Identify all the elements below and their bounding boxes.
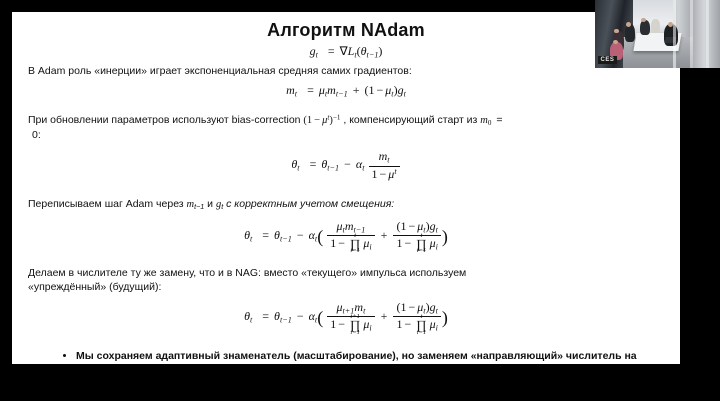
bias-text-d: 0:: [28, 128, 666, 142]
paragraph-nag-substitution: Делаем в числителе ту же замену, что и в…: [12, 266, 680, 294]
webcam-person: [625, 24, 635, 42]
bias-inline-math-2: m: [480, 115, 488, 126]
webcam-partition-beam: [673, 0, 676, 68]
equation-gradient: gt = ∇Lt(θt−1): [12, 44, 680, 59]
list-item: Мы сохраняем адаптивный знаменатель (мас…: [76, 349, 656, 364]
nag-text-line1: Делаем в числителе ту же замену, что и в…: [28, 266, 666, 280]
slide-title: Алгоритм NAdam: [12, 21, 680, 41]
webcam-person: [651, 19, 660, 33]
paragraph-rewrite-intro: Переписываем шаг Adam через mt−1 и gt с …: [12, 197, 680, 213]
webcam-overlay[interactable]: CES: [595, 0, 720, 68]
webcam-logo: CES: [598, 56, 618, 64]
equation-adam-rewritten: θt = θt−1 − αt( μtmt−1 1−∏ti=1μi + (1−μt…: [12, 220, 680, 253]
equation-nadam: θt = θt−1 − αt( μt+1mt 1−∏t+1i=1μi + (1−…: [12, 301, 680, 334]
bias-inline-math-1: (1−μt)−1: [303, 115, 340, 126]
nag-text-line2: «упреждённый» (будущий):: [28, 280, 666, 294]
bias-text-c: =: [494, 114, 504, 126]
bias-text-a: При обновлении параметров используют bia…: [28, 114, 303, 126]
equation-theta-bias-corrected: θt = θt−1 − αt mt 1−μt: [12, 150, 680, 181]
webcam-partition-beam: [706, 0, 709, 68]
webcam-person: [640, 20, 650, 35]
bias-text-b: , компенсирующий старт из: [343, 114, 480, 126]
paragraph-bias-correction: При обновлении параметров используют bia…: [12, 113, 680, 143]
webcam-person-head: [614, 29, 619, 34]
webcam-person-head: [613, 40, 618, 44]
rewrite-math-1: m: [187, 199, 195, 210]
paragraph-momentum-intro: В Adam роль «инерции» играет экспоненциа…: [12, 64, 680, 78]
webcam-scene: CES: [595, 0, 720, 68]
summary-bullet-list: Мы сохраняем адаптивный знаменатель (мас…: [12, 349, 680, 364]
webcam-partition-beam: [690, 0, 693, 68]
rewrite-text-italic: с корректным учетом смещения:: [223, 198, 394, 210]
equation-momentum: mt = μtmt−1 + (1−μt)gt: [12, 83, 680, 98]
presentation-slide: Алгоритм NAdam gt = ∇Lt(θt−1) В Adam рол…: [12, 12, 680, 364]
rewrite-text-a: Переписываем шаг Adam через: [28, 198, 187, 210]
screen-share-view: Алгоритм NAdam gt = ∇Lt(θt−1) В Adam рол…: [0, 0, 720, 401]
rewrite-text-b: и: [204, 198, 216, 210]
